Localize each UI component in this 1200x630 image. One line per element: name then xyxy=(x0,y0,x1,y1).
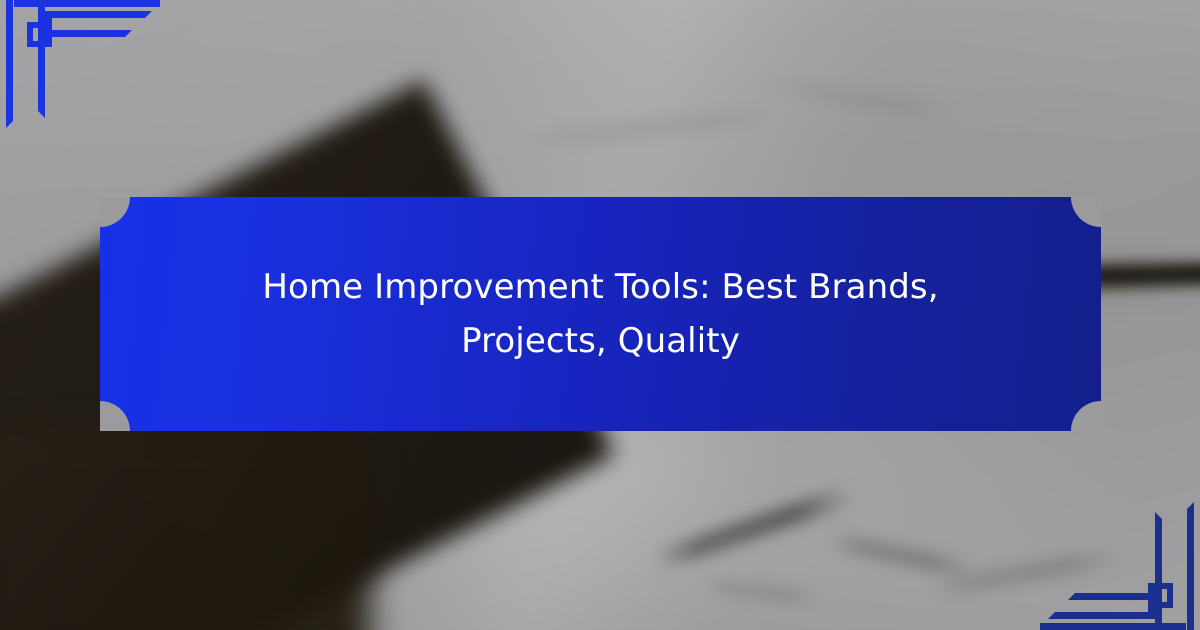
title-banner: Home Improvement Tools: Best Brands, Pro… xyxy=(100,197,1101,431)
share-card: Home Improvement Tools: Best Brands, Pro… xyxy=(0,0,1200,630)
background-dark-wedge-2 xyxy=(0,430,370,630)
page-title: Home Improvement Tools: Best Brands, Pro… xyxy=(241,260,961,368)
